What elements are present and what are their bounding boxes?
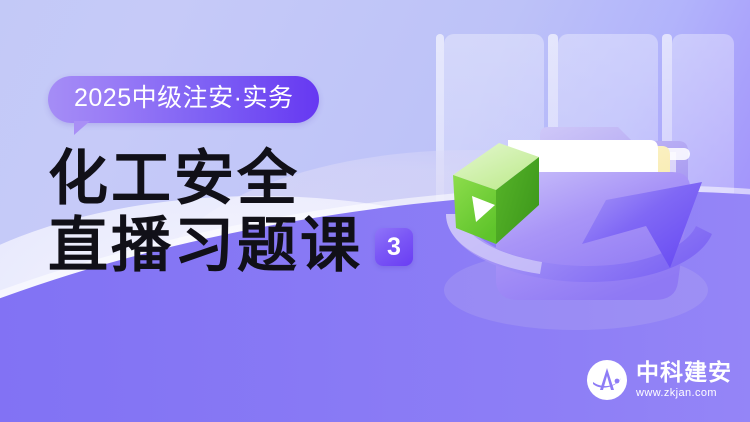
title-line-two-text: 直播习题课 bbox=[48, 213, 363, 280]
course-badge-label: 2025中级注安·实务 bbox=[48, 76, 319, 123]
course-banner: 2025中级注安·实务 化工安全 直播习题课 3 中科建安 www.zkjan.… bbox=[0, 0, 750, 422]
page-title: 化工安全 直播习题课 3 bbox=[48, 146, 413, 280]
title-line-one: 化工安全 bbox=[48, 146, 413, 213]
brand-name: 中科建安 bbox=[636, 361, 732, 384]
title-line-one-text: 化工安全 bbox=[48, 144, 300, 214]
badge-tail bbox=[74, 121, 90, 135]
title-line-two: 直播习题课 3 bbox=[48, 213, 413, 280]
brand-url: www.zkjan.com bbox=[636, 388, 732, 399]
course-badge: 2025中级注安·实务 bbox=[48, 76, 319, 123]
folder-illustration bbox=[400, 0, 750, 350]
brand-logo: 中科建安 www.zkjan.com bbox=[587, 360, 732, 400]
episode-badge: 3 bbox=[375, 228, 413, 266]
zkjan-logo-icon bbox=[587, 360, 627, 400]
brand-text: 中科建安 www.zkjan.com bbox=[636, 361, 732, 399]
